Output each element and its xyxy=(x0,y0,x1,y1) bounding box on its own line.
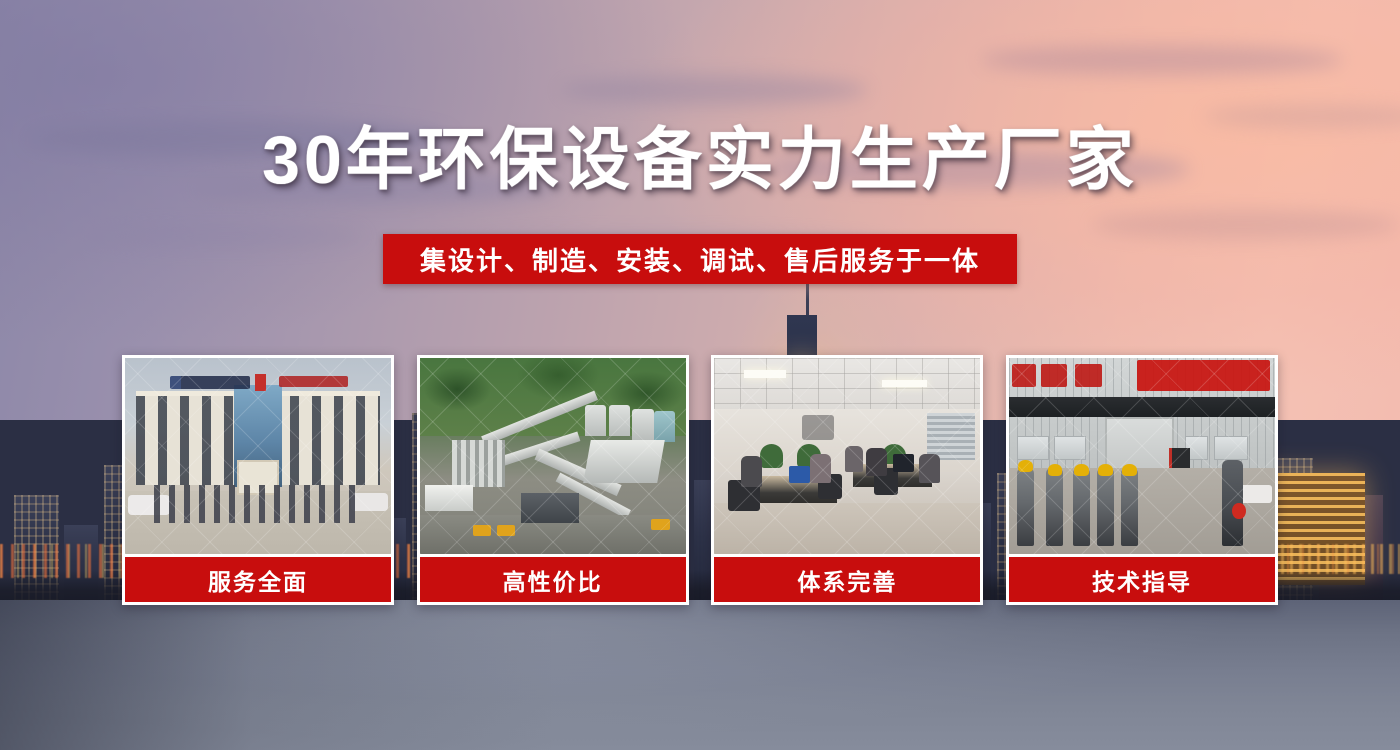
ceiling-light xyxy=(744,370,787,378)
card-label: 技术指导 xyxy=(1006,557,1278,605)
plant-hall xyxy=(583,440,665,483)
office-interior-photo xyxy=(714,358,980,554)
office-worker xyxy=(845,446,864,471)
promo-banner: 30年环保设备实力生产厂家 集设计、制造、安装、调试、售后服务于一体 服务全面 xyxy=(0,0,1400,750)
workshop-training-photo xyxy=(1009,358,1275,554)
feature-card[interactable]: 技术指导 xyxy=(1006,355,1278,605)
factory-worker xyxy=(1046,468,1063,546)
desktop-monitor xyxy=(893,454,914,472)
workshop-window xyxy=(1017,436,1049,460)
storage-silo xyxy=(609,405,630,436)
feature-card[interactable]: 体系完善 xyxy=(711,355,983,605)
company-headquarters-photo xyxy=(125,358,391,554)
card-label: 高性价比 xyxy=(417,557,689,605)
feature-card-row: 服务全面 xyxy=(122,355,1278,605)
workshop-roller-door xyxy=(1105,417,1174,476)
wall-dark-band xyxy=(1009,397,1275,417)
subtitle-banner: 集设计、制造、安装、调试、售后服务于一体 xyxy=(383,234,1017,284)
ceiling-light xyxy=(882,380,927,388)
storage-silo xyxy=(585,405,606,436)
cloud-streak xyxy=(560,75,868,105)
office-worker xyxy=(919,454,940,483)
subtitle-text: 集设计、制造、安装、调试、售后服务于一体 xyxy=(420,241,980,278)
safety-helmet xyxy=(1018,460,1033,472)
office-worker xyxy=(741,456,762,487)
cloud-streak xyxy=(84,225,364,248)
feature-card[interactable]: 高性价比 xyxy=(417,355,689,605)
company-name-sign xyxy=(170,376,250,390)
parked-car xyxy=(1240,485,1272,503)
phone-number-sign xyxy=(279,376,348,388)
factory-worker xyxy=(1017,468,1034,546)
excavator xyxy=(497,525,516,537)
office-window-blinds xyxy=(927,413,975,460)
water-shadow xyxy=(0,600,1400,750)
card-label: 体系完善 xyxy=(711,557,983,605)
office-worker xyxy=(810,454,831,483)
cloud-streak xyxy=(1204,105,1400,128)
wall-banner-headline xyxy=(1137,360,1270,391)
factory-worker xyxy=(1121,468,1138,546)
potted-plant xyxy=(760,444,784,468)
safety-helmet xyxy=(1074,464,1089,476)
storage-silo xyxy=(632,409,653,440)
safety-helmet xyxy=(1098,464,1113,476)
wall-slogan xyxy=(1041,364,1068,388)
card-label: 服务全面 xyxy=(122,557,394,605)
safety-helmet xyxy=(1048,464,1063,476)
excavator xyxy=(651,519,670,531)
plant-office xyxy=(425,485,473,510)
safety-helmet xyxy=(1122,464,1137,476)
cloud-streak xyxy=(980,45,1344,75)
desktop-monitor xyxy=(789,466,810,484)
production-plant-aerial-photo xyxy=(420,358,686,554)
staff-lineup xyxy=(154,485,362,522)
plant-hall xyxy=(521,493,580,522)
cloud-streak xyxy=(1092,210,1400,240)
wall-logo xyxy=(802,415,834,440)
wall-slogan xyxy=(1075,364,1102,388)
wall-slogan xyxy=(1012,364,1036,388)
office-ceiling xyxy=(714,358,980,409)
feature-card[interactable]: 服务全面 xyxy=(122,355,394,605)
factory-worker xyxy=(1073,468,1090,546)
processing-tower-bank xyxy=(452,440,505,487)
office-worker xyxy=(866,448,887,475)
workshop-window xyxy=(1214,436,1249,460)
page-title: 30年环保设备实力生产厂家 xyxy=(0,126,1400,194)
storage-silo xyxy=(654,411,675,442)
flag xyxy=(255,374,266,392)
factory-worker xyxy=(1097,468,1114,546)
workshop-window xyxy=(1054,436,1086,460)
excavator xyxy=(473,525,492,537)
red-safety-helmet xyxy=(1232,503,1245,519)
